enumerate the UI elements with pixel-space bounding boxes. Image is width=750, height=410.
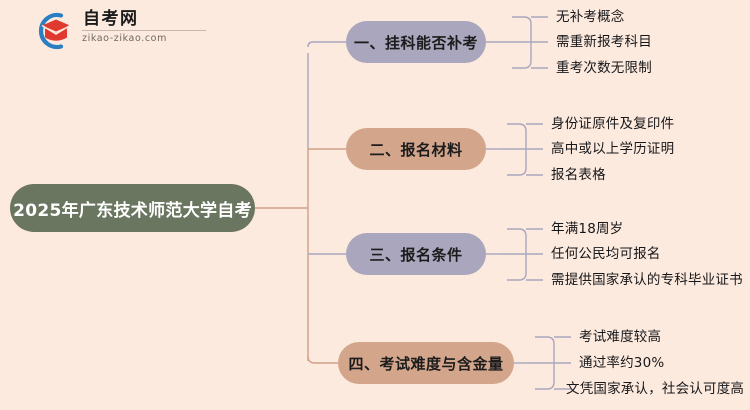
branch-node-3-label: 三、报名条件 xyxy=(369,244,462,265)
branch-node-2-label: 二、报名材料 xyxy=(369,139,462,160)
branch-1-leaf-bracket xyxy=(512,17,531,68)
branch-1-leaf-3: 重考次数无限制 xyxy=(556,60,652,76)
branch-4-leaf-2: 通过率约30% xyxy=(579,355,664,371)
branch-node-4-label: 四、考试难度与含金量 xyxy=(348,353,503,374)
branch-node-3[interactable]: 三、报名条件 xyxy=(346,233,486,275)
root-node-label: 2025年广东技术师范大学自考 xyxy=(13,196,252,221)
branch-4-leaf-3: 文凭国家承认，社会认可度高 xyxy=(566,381,744,397)
branch-3-leaf-2: 任何公民均可报名 xyxy=(551,246,661,262)
root-node[interactable]: 2025年广东技术师范大学自考 xyxy=(10,184,255,232)
branch-4-leaf-bracket xyxy=(535,337,554,389)
branch-1-leaf-1: 无补考概念 xyxy=(556,9,625,25)
branch-3-leaf-3: 需提供国家承认的专科毕业证书 xyxy=(551,272,743,288)
logo-url: zikao-zikao.com xyxy=(82,33,208,44)
branch-2-leaf-1: 身份证原件及复印件 xyxy=(551,116,674,132)
logo-divider xyxy=(82,30,206,31)
branch-1-connector xyxy=(308,42,346,47)
branch-node-4[interactable]: 四、考试难度与含金量 xyxy=(338,342,514,384)
branch-2-leaf-2: 高中或以上学历证明 xyxy=(551,141,674,157)
logo-mark-icon xyxy=(30,10,74,52)
branch-2-leaf-3: 报名表格 xyxy=(551,167,606,183)
branch-node-2[interactable]: 二、报名材料 xyxy=(346,128,486,170)
site-logo[interactable]: 自考网 zikao-zikao.com xyxy=(30,8,210,54)
logo-name-cn: 自考网 xyxy=(82,9,208,29)
branch-1-leaf-2: 需重新报考科目 xyxy=(556,34,652,50)
branch-node-1-label: 一、挂科能否补考 xyxy=(354,32,478,53)
branch-node-1[interactable]: 一、挂科能否补考 xyxy=(346,21,486,63)
branch-2-leaf-bracket xyxy=(507,124,526,175)
branch-4-connector xyxy=(308,356,338,363)
logo-text-block: 自考网 zikao-zikao.com xyxy=(82,9,208,44)
mindmap-canvas: 自考网 zikao-zikao.com 2025年广东技术师范大学自考 一、挂科… xyxy=(0,0,750,410)
branch-3-leaf-bracket xyxy=(507,229,526,280)
branch-3-leaf-1: 年满18周岁 xyxy=(551,221,623,237)
branch-4-leaf-1: 考试难度较高 xyxy=(579,329,661,345)
